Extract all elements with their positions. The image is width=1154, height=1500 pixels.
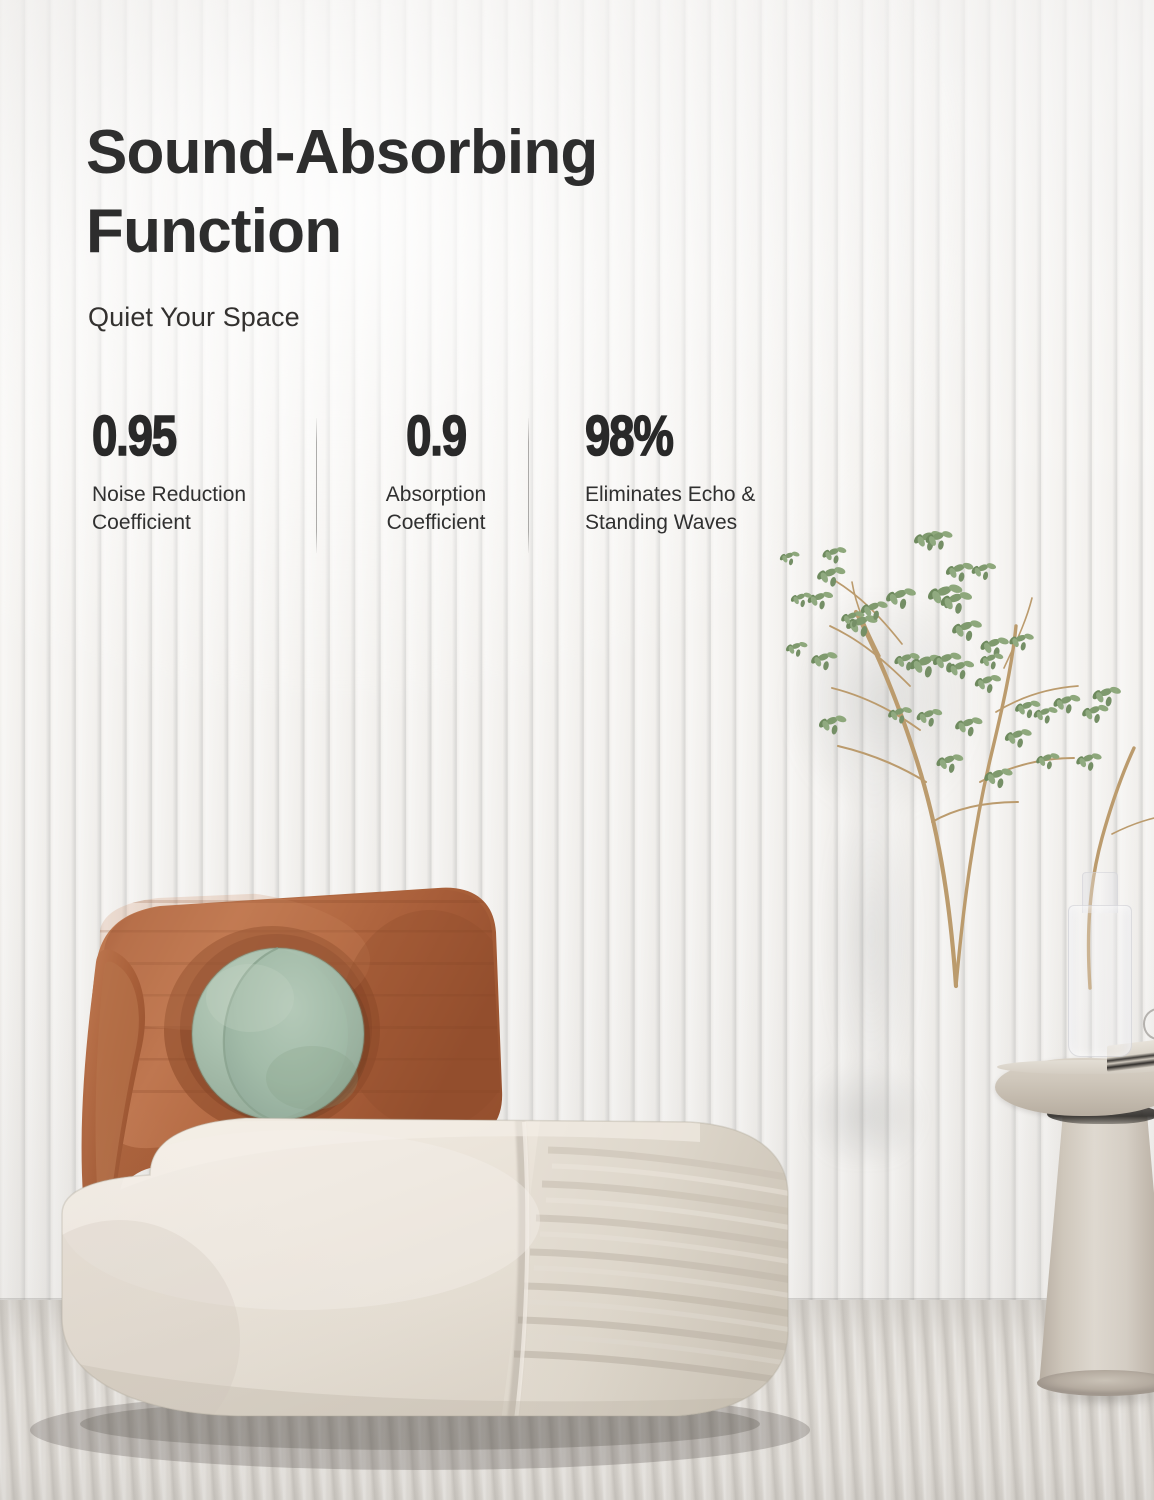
stat-label: Noise Reduction Coefficient: [92, 481, 246, 537]
stat-label: Eliminates Echo & Standing Waves: [585, 481, 755, 537]
stat-absorption-coefficient: 0.9 Absorption Coefficient: [386, 408, 486, 537]
rug: [0, 1300, 1154, 1500]
glass-vase: [1068, 905, 1132, 1057]
stat-divider-2: [528, 418, 529, 553]
stats-row: 0.95 Noise Reduction Coefficient 0.9 Abs…: [88, 408, 848, 558]
headline-line-1: Sound-Absorbing: [86, 118, 597, 187]
stat-value: 98%: [585, 408, 721, 465]
product-feature-panel: Sound-AbsorbingFunction Quiet Your Space…: [0, 0, 1154, 1500]
stat-value: 0.95: [92, 408, 215, 465]
headline-line-2: Function: [86, 197, 341, 266]
stat-value: 0.9: [396, 408, 476, 465]
subheading: Quiet Your Space: [88, 302, 300, 333]
page-title: Sound-AbsorbingFunction: [86, 113, 786, 272]
table-pedestal-base: [1039, 1116, 1154, 1386]
stat-noise-reduction-coefficient: 0.95 Noise Reduction Coefficient: [92, 408, 246, 537]
stat-eliminates-echo: 98% Eliminates Echo & Standing Waves: [585, 408, 755, 537]
stat-label: Absorption Coefficient: [386, 481, 486, 537]
rug-shading: [0, 1300, 1154, 1500]
stat-divider-1: [316, 418, 317, 553]
side-table: [995, 1030, 1154, 1450]
